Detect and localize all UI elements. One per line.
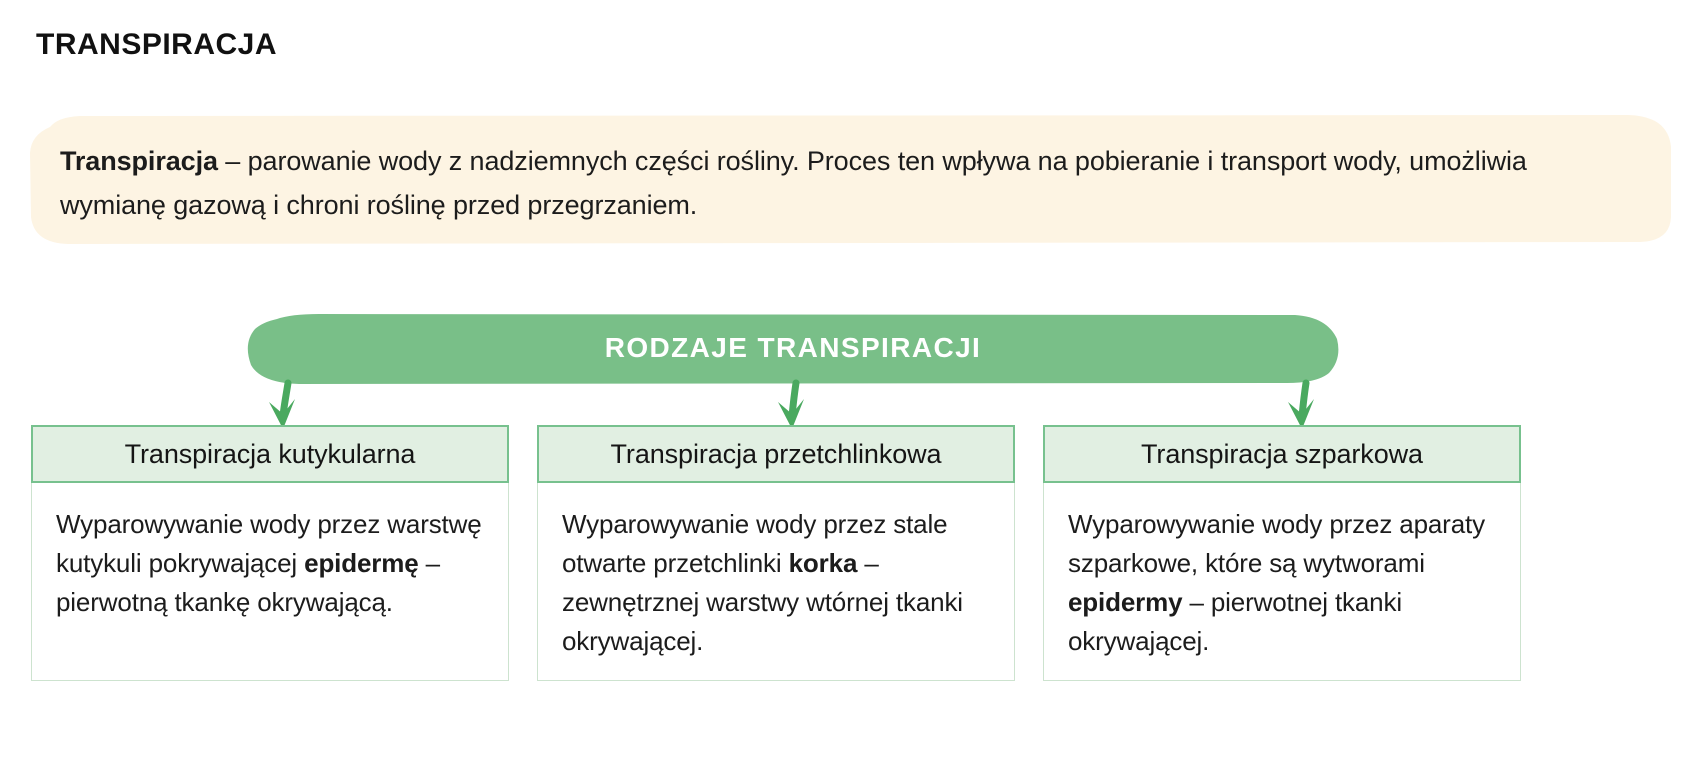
card-description: Wyparowywanie wody przez warstwę kutykul… bbox=[56, 505, 486, 622]
definition-term: Transpiracja bbox=[60, 146, 218, 176]
card-description: Wyparowywanie wody przez aparaty szparko… bbox=[1068, 505, 1498, 661]
card-header: Transpiracja przetchlinkowa bbox=[537, 425, 1015, 483]
types-banner-label: RODZAJE TRANSPIRACJI bbox=[243, 313, 1343, 385]
card-title: Transpiracja kutykularna bbox=[125, 439, 416, 470]
card-body: Wyparowywanie wody przez stale otwarte p… bbox=[537, 483, 1015, 681]
card-transpiracja-szparkowa: Transpiracja szparkowa Wyparowywanie wod… bbox=[1043, 425, 1521, 681]
card-body: Wyparowywanie wody przez aparaty szparko… bbox=[1043, 483, 1521, 681]
definition-text: Transpiracja – parowanie wody z nadziemn… bbox=[60, 139, 1620, 227]
card-bold-term: epidermę bbox=[304, 548, 418, 578]
types-banner: RODZAJE TRANSPIRACJI bbox=[243, 313, 1343, 385]
card-header: Transpiracja kutykularna bbox=[31, 425, 509, 483]
types-cards-row: Transpiracja kutykularna Wyparowywanie w… bbox=[31, 425, 1671, 681]
definition-callout: Transpiracja – parowanie wody z nadziemn… bbox=[28, 113, 1674, 246]
card-header: Transpiracja szparkowa bbox=[1043, 425, 1521, 483]
arrow-to-card-1 bbox=[269, 383, 295, 429]
card-text-before: Wyparowywanie wody przez stale otwarte p… bbox=[562, 509, 947, 578]
card-text-before: Wyparowywanie wody przez aparaty szparko… bbox=[1068, 509, 1485, 578]
card-title: Transpiracja szparkowa bbox=[1141, 439, 1423, 470]
arrow-to-card-2 bbox=[778, 383, 804, 429]
card-description: Wyparowywanie wody przez stale otwarte p… bbox=[562, 505, 992, 661]
definition-separator: – bbox=[218, 146, 248, 176]
card-bold-term: epidermy bbox=[1068, 587, 1182, 617]
card-bold-term: korka bbox=[789, 548, 858, 578]
page-title: TRANSPIRACJA bbox=[36, 28, 277, 62]
definition-body: parowanie wody z nadziemnych części rośl… bbox=[60, 146, 1527, 220]
card-body: Wyparowywanie wody przez warstwę kutykul… bbox=[31, 483, 509, 681]
card-title: Transpiracja przetchlinkowa bbox=[611, 439, 942, 470]
arrow-to-card-3 bbox=[1288, 383, 1314, 429]
card-transpiracja-kutykularna: Transpiracja kutykularna Wyparowywanie w… bbox=[31, 425, 509, 681]
card-transpiracja-przetchlinkowa: Transpiracja przetchlinkowa Wyparowywani… bbox=[537, 425, 1015, 681]
